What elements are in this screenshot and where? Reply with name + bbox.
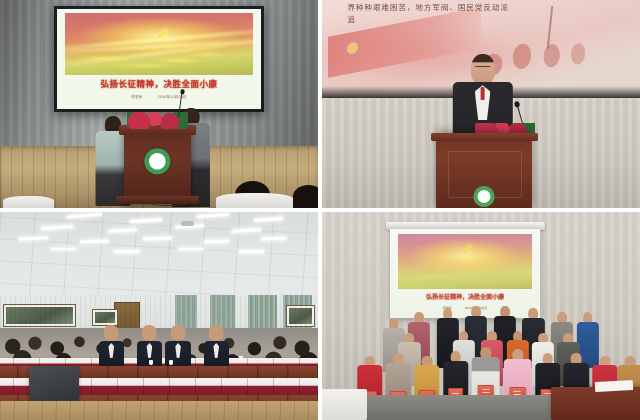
front-row-attendee [99,341,124,366]
ceiling-light [19,236,48,240]
lectern-top [431,133,538,140]
ceiling-light [232,229,261,233]
ceiling-light [239,250,264,252]
certificate-text-lines [482,388,489,393]
photo-collage: 弘扬长征精神，决胜全面小康 药学系 2016年10月20日 [0,0,640,420]
ceiling-light [197,213,229,218]
wall-notice-board [92,309,117,326]
slide-text-line-1: 界种种艰难困苦，地方军阀、国民党反动派 [347,2,636,13]
slide-text-line-2: 追 [347,14,356,25]
ceiling-light [261,236,287,240]
projection-screen: 弘扬长征精神，决胜全面小康 药学系 2016年10月20日 [54,6,264,112]
ceiling-light [130,218,162,223]
papers-on-desk [595,380,634,392]
wall-painting-canvas [6,307,73,324]
ceiling-light [108,229,137,233]
front-row-attendee [204,341,229,366]
foreground-audience-shoulder [216,193,292,208]
wall-notice-canvas [95,312,114,323]
ceiling-projector [181,221,194,226]
ceiling-light [79,240,108,244]
slide-department: 药学系 [131,95,142,99]
slide-sunrise-artwork [65,13,253,75]
panel-two-students-presenting-at-podium: 弘扬长征精神，决胜全面小康 药学系 2016年10月20日 [0,0,318,208]
slide-title: 弘扬长征精神，决胜全面小康 [63,78,255,90]
aisle-floor [0,401,318,420]
red-tie [480,87,485,100]
slide-title: 弘扬长征精神，决胜全面小康 [393,292,536,301]
wall-painting [3,304,76,327]
glasses-icon [475,66,491,71]
ceiling-light [178,248,203,250]
school-emblem-icon [145,148,170,173]
wall-portrait [286,305,315,327]
ceiling-light [114,250,139,252]
ceiling-light [143,236,172,240]
slide-date: 2016年10月20日 [158,95,187,99]
paper-cup [169,360,173,365]
panel-audience-in-auditorium [0,212,318,420]
foreground-audience-shoulder [3,196,54,208]
lectern [124,125,191,204]
foreground-white-desk [322,389,367,420]
school-emblem-icon [474,186,495,207]
slide-subtitle: 药学系 2016年10月20日 [63,95,255,100]
ceiling [0,212,318,304]
panel-group-photo-with-certificates: 弘扬长征精神，决胜全面小康 药学系 2016年10月20日 [322,212,640,420]
hammer-and-sickle-icon [151,26,174,40]
ceiling-light [203,240,229,244]
hammer-and-sickle-icon [458,243,475,255]
ceiling-light [254,217,283,222]
panel-woman-speaking-at-podium: 界种种艰难困苦，地方军阀、国民党反动派 追 [322,0,640,208]
paper-cup [239,356,243,361]
ceiling-light [51,248,76,250]
lectern [436,133,531,208]
wall-portrait-canvas [289,308,312,324]
slide-sunrise-artwork [398,234,533,289]
ceiling-light [41,225,73,230]
ceiling-light [67,212,102,218]
foreground-audience-head [293,185,318,208]
title-slide: 弘扬长征精神，决胜全面小康 药学系 2016年10月20日 [57,9,261,109]
